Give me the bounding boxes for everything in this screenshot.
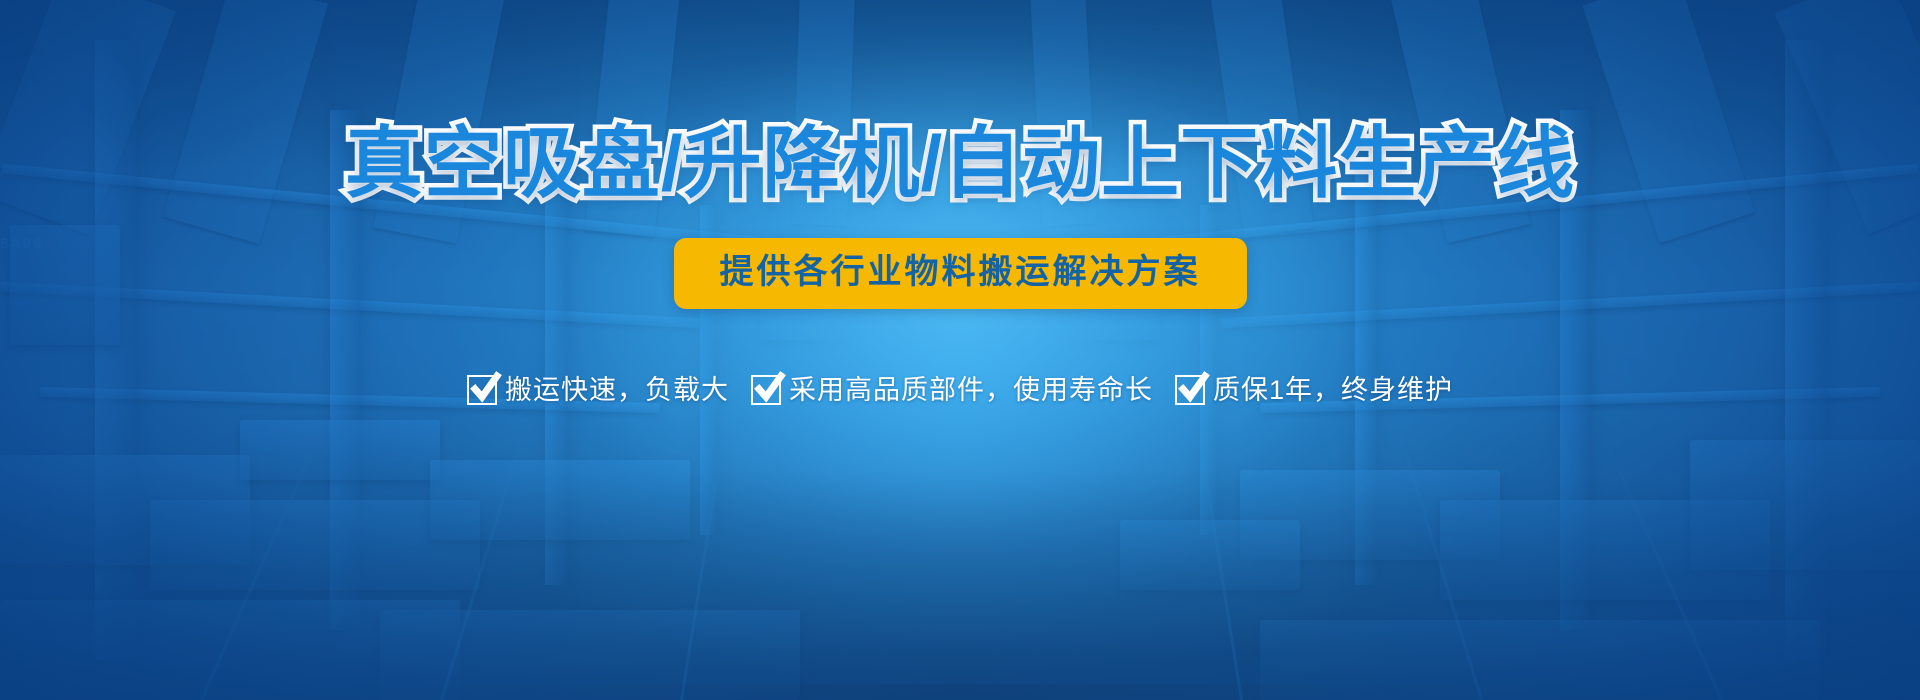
banner-content: 真空吸盘/升降机/自动上下料生产线 提供各行业物料搬运解决方案 搬运快速，负载大… xyxy=(0,0,1920,700)
feature-label: 质保1年，终身维护 xyxy=(1213,377,1453,404)
check-icon xyxy=(751,375,781,405)
feature-list: 搬运快速，负载大 采用高品质部件，使用寿命长 质保1年，终身维护 xyxy=(467,375,1453,405)
feature-item: 质保1年，终身维护 xyxy=(1175,375,1453,405)
banner-subtitle-badge: 提供各行业物料搬运解决方案 xyxy=(674,238,1247,309)
feature-label: 搬运快速，负载大 xyxy=(505,377,729,404)
check-icon xyxy=(467,375,497,405)
check-icon xyxy=(1175,375,1205,405)
banner-headline: 真空吸盘/升降机/自动上下料生产线 xyxy=(345,124,1575,202)
feature-item: 搬运快速，负载大 xyxy=(467,375,729,405)
hero-banner: BA06 真空吸盘/升降机/自动上下料生产线 提供各行业物料搬运解决方案 搬运快… xyxy=(0,0,1920,700)
feature-item: 采用高品质部件，使用寿命长 xyxy=(751,375,1153,405)
feature-label: 采用高品质部件，使用寿命长 xyxy=(789,377,1153,404)
